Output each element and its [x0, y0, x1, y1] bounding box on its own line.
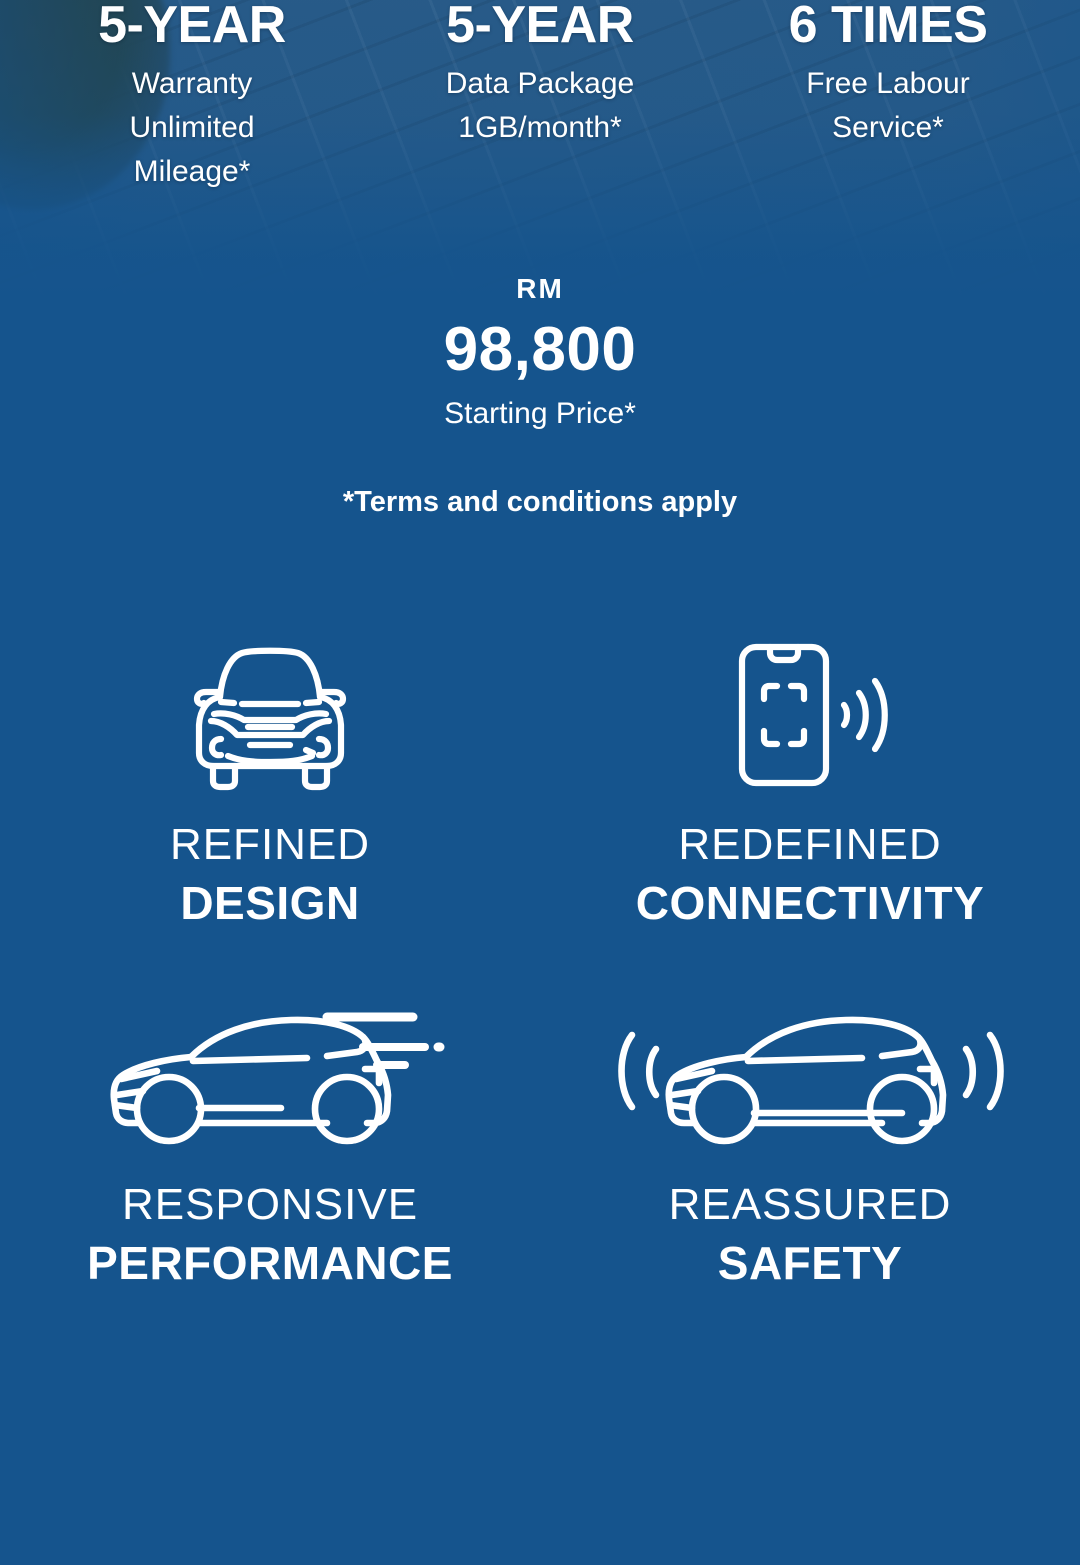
benefit-subtext-line: Unlimited: [18, 106, 366, 150]
benefit-headline: 6 TIMES: [714, 0, 1062, 54]
benefit-data-package: 5-YEAR Data Package 1GB/month*: [366, 0, 714, 194]
benefit-subtext-line: Mileage*: [18, 150, 366, 194]
benefit-subtext-line: Warranty: [18, 62, 366, 106]
benefit-free-labour: 6 TIMES Free Labour Service*: [714, 0, 1062, 194]
benefit-subtext-line: Service*: [714, 106, 1062, 150]
feature-label: REASSURED SAFETY: [669, 1178, 952, 1292]
benefit-subtext: Free Labour Service*: [714, 62, 1062, 150]
feature-refined-design: REFINED DESIGN: [0, 600, 540, 960]
feature-label-line2: PERFORMANCE: [87, 1234, 453, 1292]
price-block: RM 98,800 Starting Price*: [0, 272, 1080, 434]
feature-label-line1: REFINED: [170, 818, 370, 872]
feature-label: RESPONSIVE PERFORMANCE: [87, 1178, 453, 1292]
feature-label: REFINED DESIGN: [170, 818, 370, 932]
benefit-subtext-line: Free Labour: [714, 62, 1062, 106]
price-amount: 98,800: [0, 312, 1080, 388]
benefit-warranty: 5-YEAR Warranty Unlimited Mileage*: [18, 0, 366, 194]
benefit-subtext: Warranty Unlimited Mileage*: [18, 62, 366, 194]
benefit-subtext: Data Package 1GB/month*: [366, 62, 714, 150]
car-front-icon: [180, 622, 360, 808]
price-currency: RM: [0, 272, 1080, 306]
car-speed-icon: [95, 982, 445, 1168]
benefits-row: 5-YEAR Warranty Unlimited Mileage* 5-YEA…: [0, 0, 1080, 194]
feature-reassured-safety: REASSURED SAFETY: [540, 960, 1080, 1320]
feature-label: REDEFINED CONNECTIVITY: [636, 818, 984, 932]
feature-label-line2: DESIGN: [170, 874, 370, 932]
feature-redefined-connectivity: REDEFINED CONNECTIVITY: [540, 600, 1080, 960]
smartphone-connectivity-icon: [720, 622, 900, 808]
terms-and-conditions-note: *Terms and conditions apply: [0, 483, 1080, 521]
feature-label-line1: RESPONSIVE: [87, 1178, 453, 1232]
features-grid: REFINED DESIGN: [0, 600, 1080, 1320]
car-sensors-icon: [600, 982, 1020, 1168]
benefit-subtext-line: 1GB/month*: [366, 106, 714, 150]
feature-label-line1: REDEFINED: [636, 818, 984, 872]
feature-label-line2: CONNECTIVITY: [636, 874, 984, 932]
benefit-subtext-line: Data Package: [366, 62, 714, 106]
feature-label-line2: SAFETY: [669, 1234, 952, 1292]
feature-label-line1: REASSURED: [669, 1178, 952, 1232]
price-caption: Starting Price*: [0, 394, 1080, 434]
promo-infographic: 5-YEAR Warranty Unlimited Mileage* 5-YEA…: [0, 0, 1080, 1565]
benefit-headline: 5-YEAR: [18, 0, 366, 54]
benefit-headline: 5-YEAR: [366, 0, 714, 54]
feature-responsive-performance: RESPONSIVE PERFORMANCE: [0, 960, 540, 1320]
